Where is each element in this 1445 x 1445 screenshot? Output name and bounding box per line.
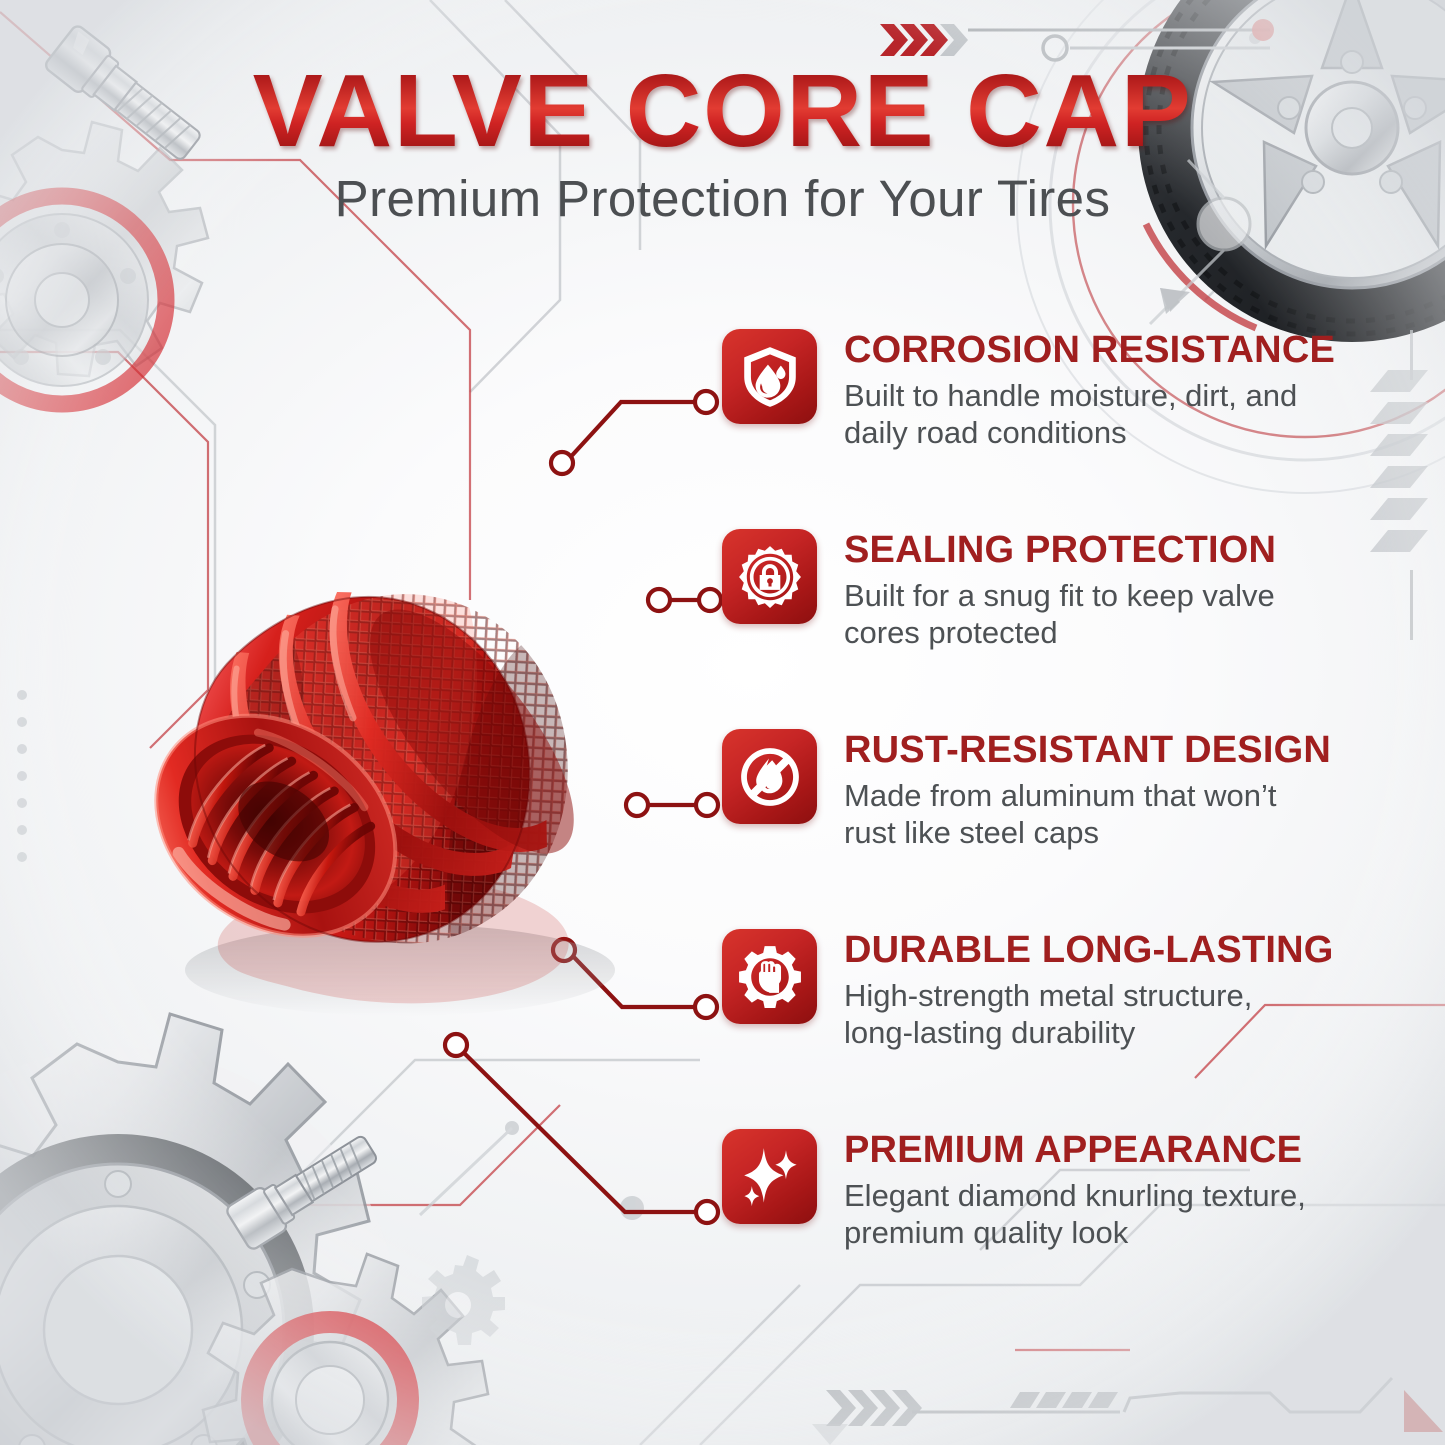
feature-heading: SEALING PROTECTION bbox=[844, 531, 1276, 571]
feature-body: Built for a snug fit to keep valve cores… bbox=[844, 577, 1276, 651]
feature-heading: DURABLE LONG-LASTING bbox=[844, 931, 1334, 971]
feature-body-line-1: Made from aluminum that won’t bbox=[844, 777, 1331, 814]
feature-item-durable-long-lasting[interactable]: DURABLE LONG-LASTING High-strength metal… bbox=[722, 929, 1382, 1129]
feature-text: PREMIUM APPEARANCE Elegant diamond knurl… bbox=[844, 1129, 1306, 1251]
feature-body-line-2: rust like steel caps bbox=[844, 814, 1331, 851]
page-title: VALVE CORE CAP bbox=[0, 58, 1445, 163]
feature-item-corrosion-resistance[interactable]: CORROSION RESISTANCE Built to handle moi… bbox=[722, 329, 1382, 529]
feature-body: High-strength metal structure, long-last… bbox=[844, 977, 1334, 1051]
feature-body-line-2: daily road conditions bbox=[844, 414, 1335, 451]
feature-list: CORROSION RESISTANCE Built to handle moi… bbox=[722, 329, 1382, 1251]
feature-heading: PREMIUM APPEARANCE bbox=[844, 1131, 1306, 1171]
mini-gear-icon bbox=[422, 1255, 505, 1345]
gear-fist-icon bbox=[722, 929, 817, 1024]
feature-text: SEALING PROTECTION Built for a snug fit … bbox=[844, 529, 1276, 651]
gear-graphic-bottom-left bbox=[0, 1014, 400, 1445]
feature-body: Elegant diamond knurling texture, premiu… bbox=[844, 1177, 1306, 1251]
feature-body-line-2: long-lasting durability bbox=[844, 1014, 1334, 1051]
feature-body-line-1: High-strength metal structure, bbox=[844, 977, 1334, 1014]
feature-body: Made from aluminum that won’t rust like … bbox=[844, 777, 1331, 851]
no-water-droplet-icon bbox=[722, 729, 817, 824]
feature-text: DURABLE LONG-LASTING High-strength metal… bbox=[844, 929, 1334, 1051]
infographic-canvas: VALVE CORE CAP Premium Protection for Yo… bbox=[0, 0, 1445, 1445]
sparkle-stars-icon bbox=[722, 1129, 817, 1224]
bolt-graphic-bottom-left bbox=[225, 1126, 384, 1251]
feature-body-line-2: cores protected bbox=[844, 614, 1276, 651]
feature-text: CORROSION RESISTANCE Built to handle moi… bbox=[844, 329, 1335, 451]
feature-body-line-1: Built for a snug fit to keep valve bbox=[844, 577, 1276, 614]
feature-body: Built to handle moisture, dirt, and dail… bbox=[844, 377, 1335, 451]
bottom-chevron-decor bbox=[826, 1378, 1445, 1432]
feature-body-line-2: premium quality look bbox=[844, 1214, 1306, 1251]
feature-item-sealing-protection[interactable]: SEALING PROTECTION Built for a snug fit … bbox=[722, 529, 1382, 729]
feature-item-rust-resistant-design[interactable]: RUST-RESISTANT DESIGN Made from aluminum… bbox=[722, 729, 1382, 929]
feature-body-line-1: Elegant diamond knurling texture, bbox=[844, 1177, 1306, 1214]
header: VALVE CORE CAP Premium Protection for Yo… bbox=[0, 58, 1445, 228]
feature-body-line-1: Built to handle moisture, dirt, and bbox=[844, 377, 1335, 414]
feature-heading: CORROSION RESISTANCE bbox=[844, 331, 1335, 371]
feature-item-premium-appearance[interactable]: PREMIUM APPEARANCE Elegant diamond knurl… bbox=[722, 1129, 1382, 1251]
feature-text: RUST-RESISTANT DESIGN Made from aluminum… bbox=[844, 729, 1331, 851]
seal-lock-icon bbox=[722, 529, 817, 624]
small-gear-graphic bbox=[203, 1254, 488, 1445]
feature-heading: RUST-RESISTANT DESIGN bbox=[844, 731, 1331, 771]
dot-column-decor bbox=[17, 690, 27, 862]
shield-droplet-icon bbox=[722, 329, 817, 424]
product-image-valve-cap bbox=[70, 450, 680, 1050]
page-subtitle: Premium Protection for Your Tires bbox=[0, 169, 1445, 228]
